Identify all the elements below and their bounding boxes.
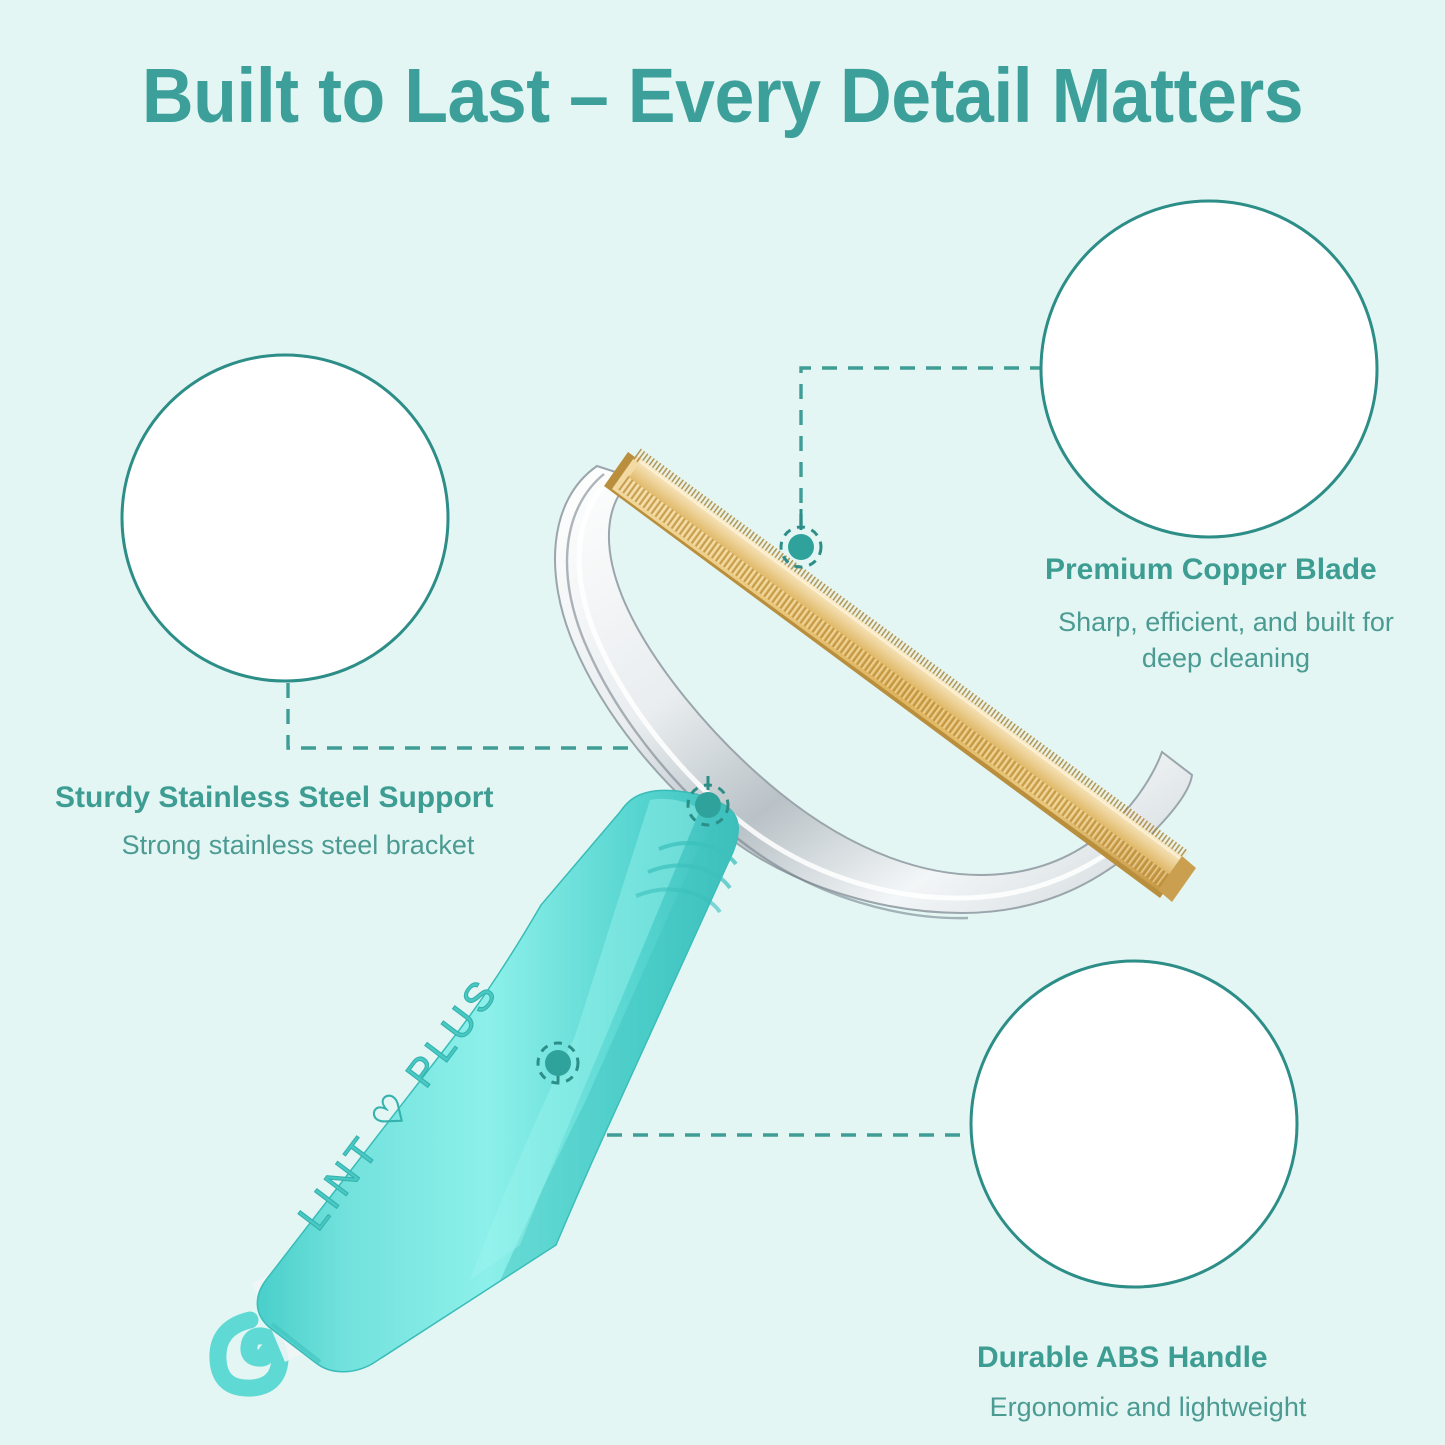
callout-title-steel-support: Sturdy Stainless Steel Support — [55, 781, 493, 815]
infographic-canvas: Built to Last – Every Detail Matters — [0, 0, 1445, 1445]
abs-handle-detail-circle: ♡P — [971, 961, 1301, 1290]
callout-title-abs-handle: Durable ABS Handle — [977, 1341, 1268, 1375]
callout-title-copper-blade: Premium Copper Blade — [1045, 553, 1377, 587]
callout-desc-steel-support: Strong stainless steel bracket — [30, 827, 566, 863]
product-illustration: LINT ♡ PLUS — [0, 0, 1445, 1445]
callout-desc-copper-blade: Sharp, efficient, and built for deep cle… — [1036, 604, 1416, 676]
copper-blade-detail-circle — [992, 190, 1428, 564]
callout-desc-abs-handle: Ergonomic and lightweight — [930, 1389, 1366, 1425]
handle-hang-loop — [218, 1320, 280, 1388]
connector-copper-blade — [801, 368, 1045, 525]
abs-handle: LINT ♡ PLUS — [218, 791, 738, 1389]
steel-support-detail-circle — [120, 355, 452, 681]
